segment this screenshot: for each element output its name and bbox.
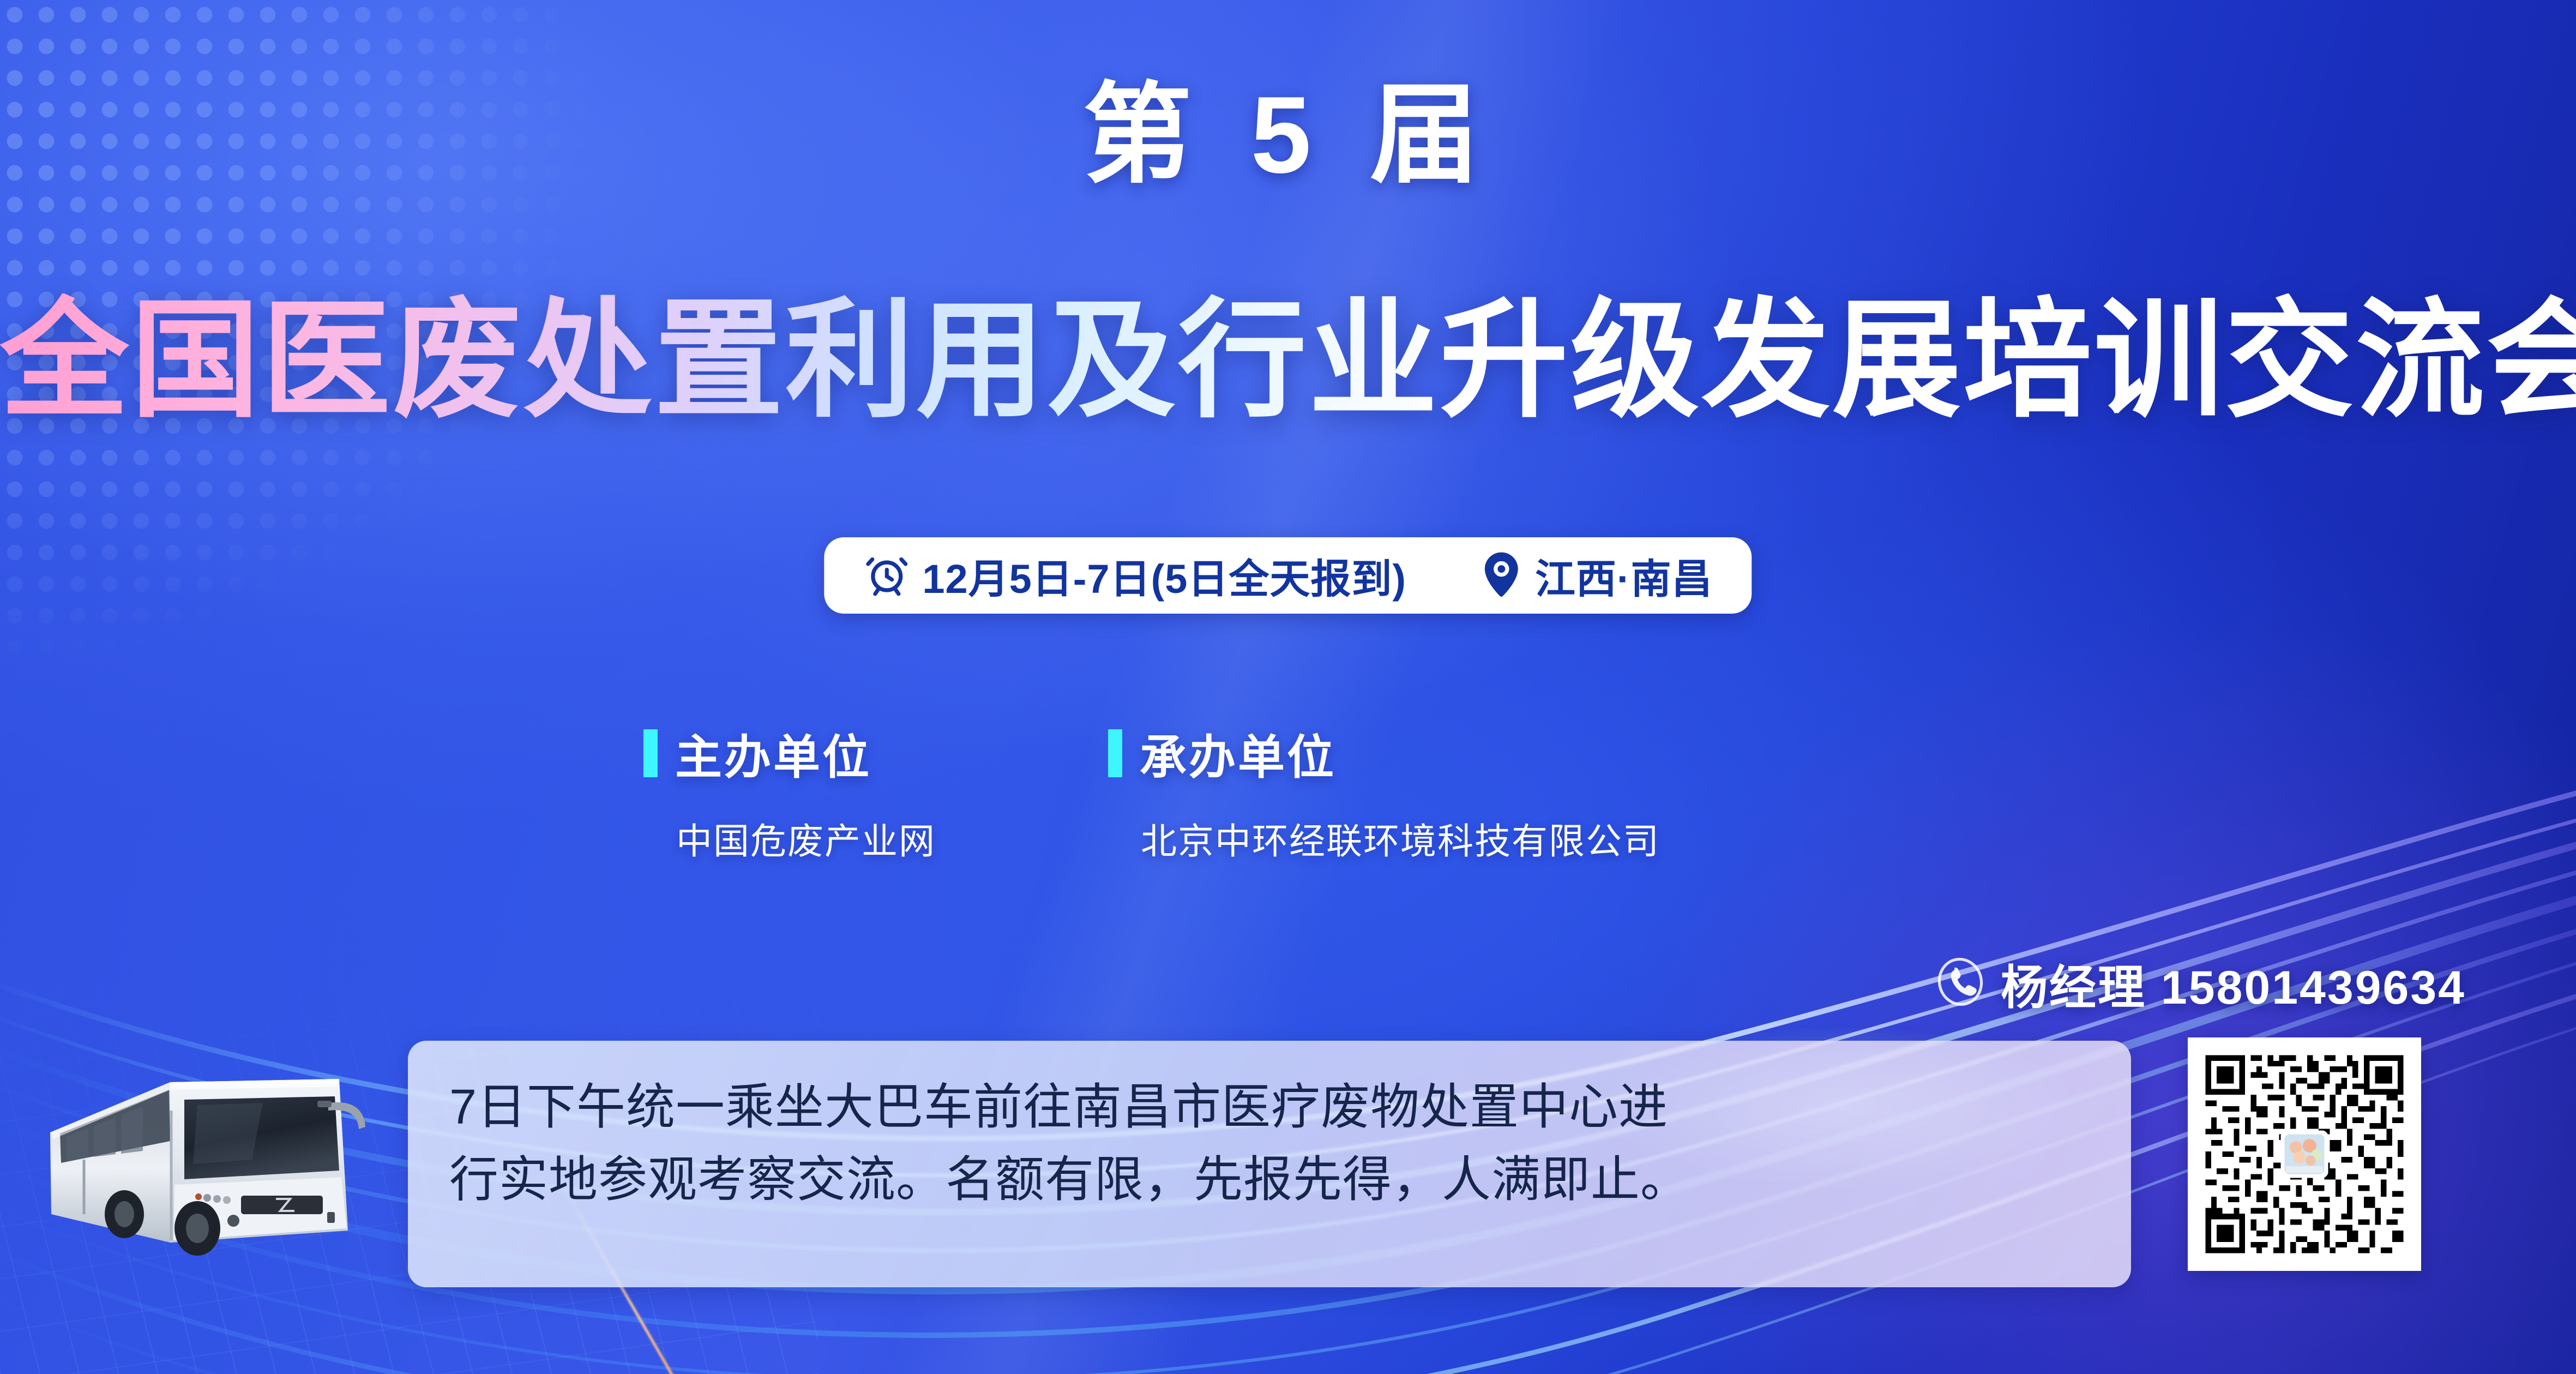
page-title-edition: 第 5 届 <box>0 81 2576 190</box>
organizer-host-heading: 主办单位 <box>643 719 936 787</box>
phone-icon <box>1934 956 1987 1011</box>
event-date-text: 12月5日-7日(5日全天报到) <box>922 547 1406 605</box>
organizer-coorganizer-name: 北京中环经联环境科技有限公司 <box>1141 812 1660 865</box>
organizer-host-label: 主办单位 <box>675 719 871 787</box>
coach-bus-illustration <box>34 1051 394 1269</box>
event-banner: 第 5 届 全国医废处置利用及行业升级发展培训交流会 12月5日-7日(5日全天… <box>0 0 2576 1374</box>
organizer-block-coorganizer: 承办单位 北京中环经联环境科技有限公司 <box>1108 719 1660 865</box>
organizers-section: 主办单位 中国危废产业网 承办单位 北京中环经联环境科技有限公司 <box>643 719 1660 865</box>
contact-text: 杨经理 15801439634 <box>2001 949 2466 1017</box>
organizer-coorganizer-heading: 承办单位 <box>1108 719 1660 787</box>
page-title-main: 全国医废处置利用及行业升级发展培训交流会 <box>0 293 2576 429</box>
accent-bar-icon <box>1108 729 1122 777</box>
organizer-coorganizer-label: 承办单位 <box>1140 719 1336 787</box>
event-location-text: 江西·南昌 <box>1535 547 1713 605</box>
map-pin-icon <box>1479 551 1523 601</box>
flower-bouquet-avatar <box>2280 1130 2328 1178</box>
notice-line-1: 7日下午统一乘坐大巴车前往南昌市医疗废物处置中心进 <box>449 1071 2090 1144</box>
alarm-clock-icon <box>863 551 910 601</box>
notice-box: 7日下午统一乘坐大巴车前往南昌市医疗废物处置中心进 行实地参观考察交流。名额有限… <box>408 1041 2131 1287</box>
contact-block: 杨经理 15801439634 <box>1934 949 2466 1017</box>
accent-bar-icon <box>643 729 658 777</box>
event-location-group: 江西·南昌 <box>1479 547 1713 605</box>
event-info-pill: 12月5日-7日(5日全天报到) 江西·南昌 <box>824 537 1752 614</box>
event-date-group: 12月5日-7日(5日全天报到) <box>863 547 1406 605</box>
wechat-qr-code[interactable] <box>2188 1037 2421 1271</box>
organizer-block-host: 主办单位 中国危废产业网 <box>643 719 936 865</box>
organizer-host-name: 中国危废产业网 <box>676 812 936 865</box>
notice-line-2: 行实地参观考察交流。名额有限，先报先得，人满即止。 <box>449 1144 2090 1216</box>
